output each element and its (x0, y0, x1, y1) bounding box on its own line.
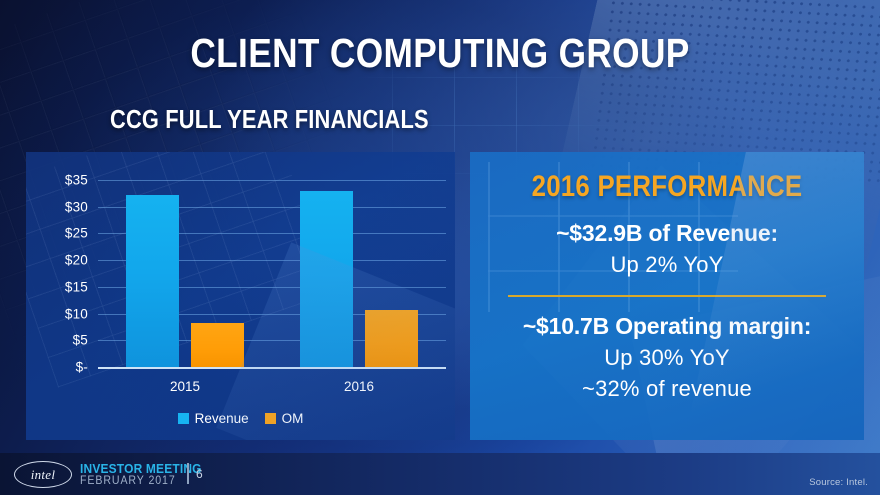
x-axis-line (98, 367, 446, 369)
y-axis-tick-label: $25 (26, 226, 88, 241)
stat-om-head: ~$10.7B Operating margin: (470, 313, 864, 340)
stat-operating-margin: ~$10.7B Operating margin: Up 30% YoY ~32… (470, 313, 864, 402)
legend-label: OM (282, 411, 304, 426)
stat-om-sub2: ~32% of revenue (470, 376, 864, 402)
bar-revenue-2015 (126, 195, 179, 367)
chart-gridline (98, 180, 446, 181)
x-axis-tick-label: 2015 (170, 379, 200, 394)
y-axis-tick-label: $35 (26, 173, 88, 188)
footer-divider (187, 463, 189, 484)
legend-label: Revenue (195, 411, 249, 426)
legend-item-om: OM (265, 411, 304, 426)
legend-swatch-icon (265, 413, 276, 424)
stat-om-sub: Up 30% YoY (470, 345, 864, 371)
bar-chart: $35$30$25$20$15$10$5$-20152016 (26, 152, 455, 440)
bar-om-2016 (365, 310, 418, 367)
chart-legend: RevenueOM (26, 411, 455, 426)
x-axis-tick-label: 2016 (344, 379, 374, 394)
source-note: Source: Intel. (809, 477, 868, 488)
footer-event-date: FEBRUARY 2017 (80, 475, 176, 487)
slide-root: CLIENT COMPUTING GROUP CCG FULL YEAR FIN… (0, 0, 880, 495)
page-subtitle: CCG FULL YEAR FINANCIALS (110, 104, 429, 135)
stat-revenue-head: ~$32.9B of Revenue: (470, 220, 864, 247)
page-number: 6 (196, 467, 203, 481)
intel-logo-icon: intel (14, 461, 72, 488)
y-axis-tick-label: $15 (26, 279, 88, 294)
y-axis-tick-label: $20 (26, 253, 88, 268)
bar-revenue-2016 (300, 191, 353, 367)
section-divider (508, 295, 826, 297)
chart-panel: $35$30$25$20$15$10$5$-20152016 RevenueOM (26, 152, 455, 440)
bar-om-2015 (191, 323, 244, 367)
y-axis-tick-label: $- (26, 360, 88, 375)
y-axis-tick-label: $5 (26, 333, 88, 348)
y-axis-tick-label: $30 (26, 199, 88, 214)
performance-panel: 2016 PERFORMANCE ~$32.9B of Revenue: Up … (470, 152, 864, 440)
y-axis-tick-label: $10 (26, 306, 88, 321)
page-title: CLIENT COMPUTING GROUP (62, 30, 819, 77)
legend-swatch-icon (178, 413, 189, 424)
legend-item-revenue: Revenue (178, 411, 249, 426)
footer-event-name: INVESTOR MEETING (80, 461, 202, 476)
performance-heading: 2016 PERFORMANCE (498, 170, 837, 204)
footer-bar: intel INVESTOR MEETING FEBRUARY 2017 6 S… (0, 453, 880, 495)
stat-revenue-sub: Up 2% YoY (470, 252, 864, 278)
stat-revenue: ~$32.9B of Revenue: Up 2% YoY (470, 220, 864, 278)
